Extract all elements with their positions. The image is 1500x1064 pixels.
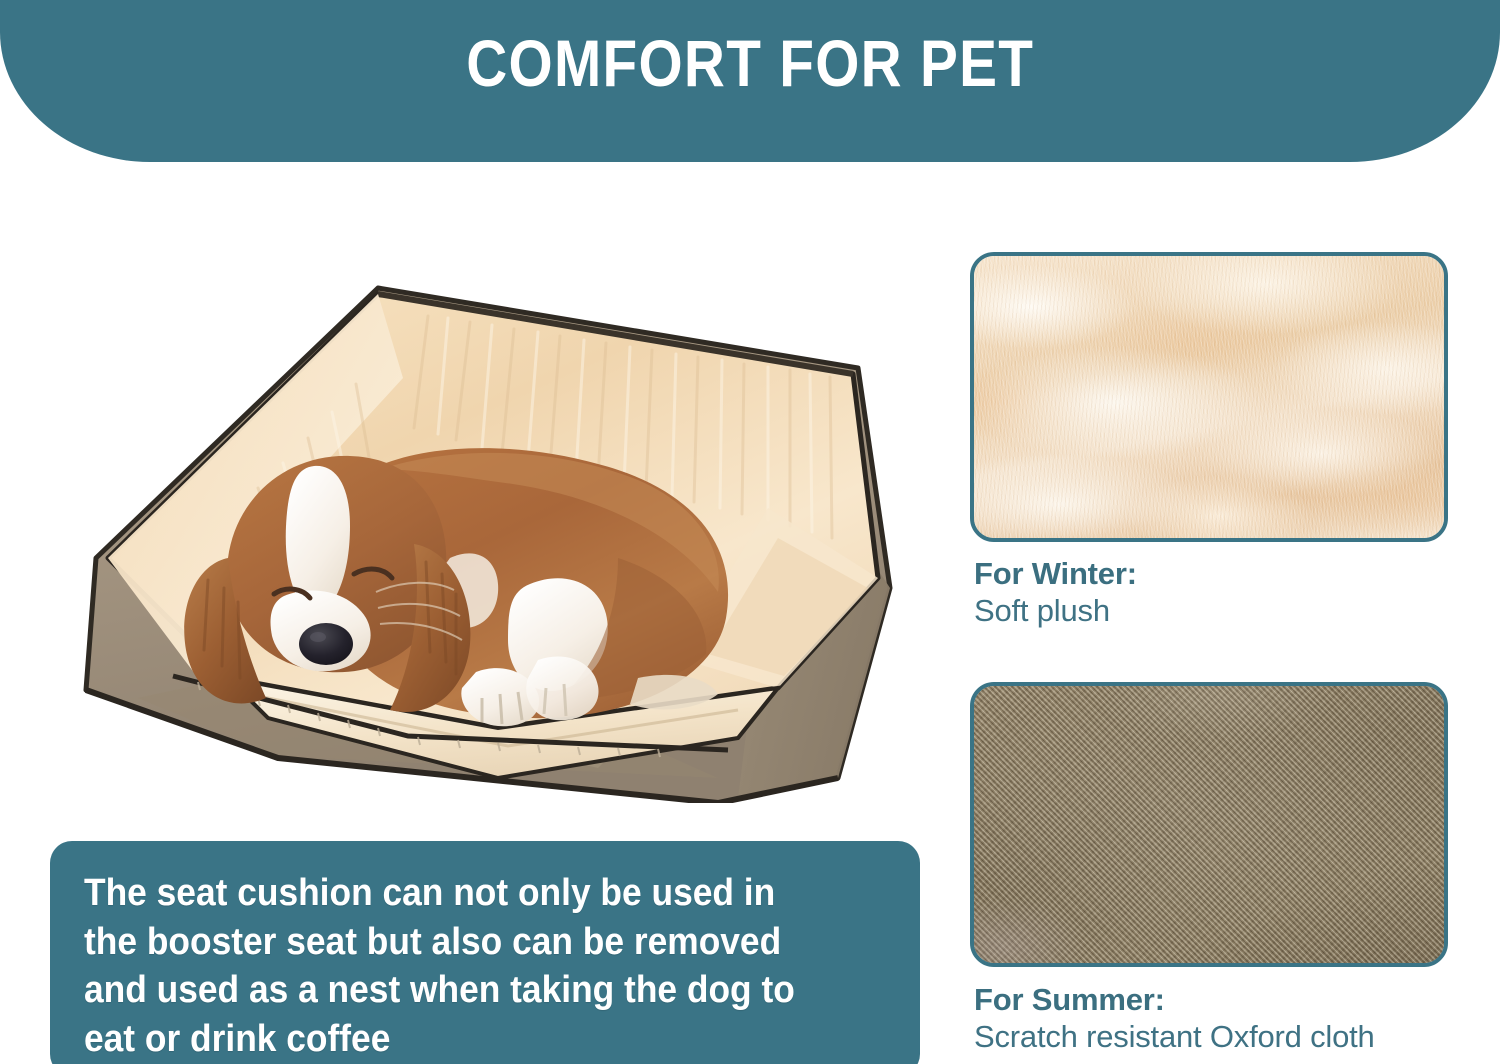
- plush-fiber-texture: [974, 256, 1444, 538]
- swatch-subtitle-summer: Scratch resistant Oxford cloth: [974, 1018, 1375, 1055]
- swatch-label-summer: For Summer: Scratch resistant Oxford clo…: [974, 982, 1375, 1055]
- swatch-subtitle-winter: Soft plush: [974, 592, 1137, 629]
- swatch-card-winter: [970, 252, 1448, 542]
- swatch-card-summer: [970, 682, 1448, 967]
- header-banner: COMFORT FOR PET: [0, 0, 1500, 162]
- swatch-heading-summer: For Summer:: [974, 982, 1375, 1018]
- page-title: COMFORT FOR PET: [466, 30, 1034, 96]
- swatch-heading-winter: For Winter:: [974, 556, 1137, 592]
- caption-box: The seat cushion can not only be used in…: [50, 841, 920, 1064]
- oxford-sheen-highlight: [974, 686, 1444, 963]
- caption-text: The seat cushion can not only be used in…: [84, 869, 830, 1064]
- oxford-cloth-fabric-swatch: [974, 686, 1444, 963]
- product-photo-dog-in-bed: [78, 258, 898, 803]
- soft-plush-fabric-swatch: [974, 256, 1444, 538]
- product-feature-graphic: COMFORT FOR PET: [0, 0, 1500, 1064]
- swatch-label-winter: For Winter: Soft plush: [974, 556, 1137, 629]
